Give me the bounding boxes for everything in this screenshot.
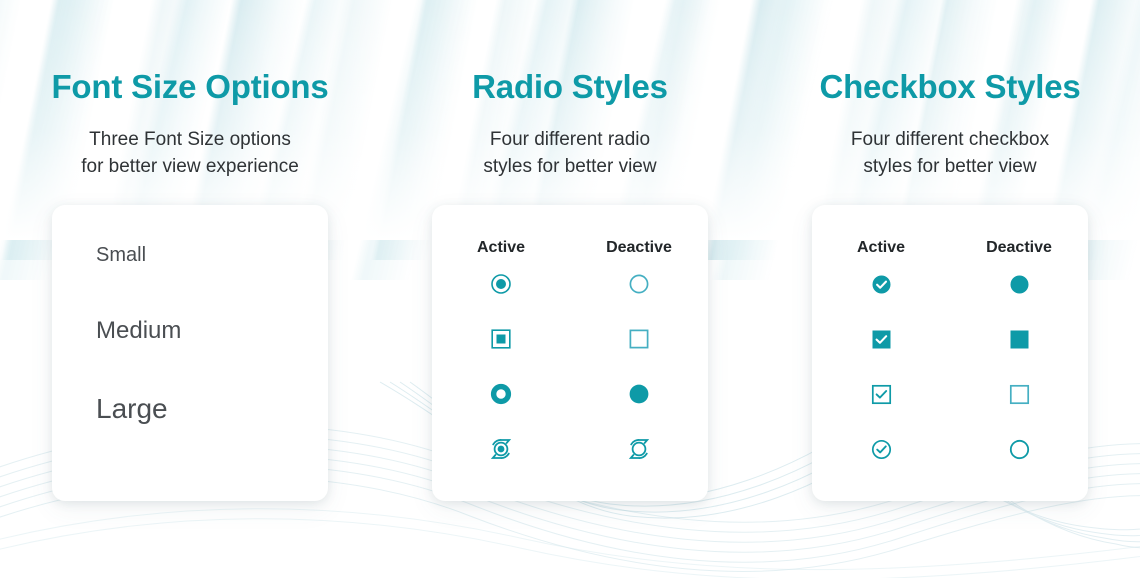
page-root: Font Size Options Three Font Size option… <box>0 0 1140 578</box>
checkbox-square-filled-icon[interactable] <box>1009 329 1030 350</box>
radio-deactive-cell-2[interactable] <box>570 328 708 350</box>
checkbox-option-grid: Active Deactive <box>812 205 1088 477</box>
radio-grid-header: Active Deactive <box>432 239 708 257</box>
columns-container: Font Size Options Three Font Size option… <box>0 0 1140 578</box>
radio-active-cell-2[interactable] <box>432 328 570 350</box>
font-size-option-large[interactable]: Large <box>96 395 328 423</box>
column-title-radio: Radio Styles <box>472 70 668 103</box>
checkbox-circle-outline-icon[interactable] <box>1009 439 1030 460</box>
checkbox-active-cell-2[interactable] <box>812 329 950 350</box>
radio-square-filled-inner-icon[interactable] <box>490 328 512 350</box>
checkbox-active-cell-3[interactable] <box>812 384 950 405</box>
radio-row-2 <box>432 312 708 367</box>
font-size-card: Small Medium Large <box>52 205 328 501</box>
radio-header-active: Active <box>432 239 570 257</box>
radio-header-deactive: Deactive <box>570 239 708 257</box>
radio-active-cell-3[interactable] <box>432 383 570 405</box>
checkbox-styles-card: Active Deactive <box>812 205 1088 501</box>
font-size-option-medium[interactable]: Medium <box>96 319 328 343</box>
column-title-checkbox: Checkbox Styles <box>819 70 1080 103</box>
radio-row-4 <box>432 422 708 477</box>
radio-slashed-circle-filled-icon[interactable] <box>489 437 513 461</box>
checkbox-row-4 <box>812 422 1088 477</box>
font-size-option-small[interactable]: Small <box>96 245 328 265</box>
radio-row-1 <box>432 257 708 312</box>
radio-deactive-cell-1[interactable] <box>570 273 708 295</box>
checkbox-circle-check-filled-icon[interactable] <box>871 274 892 295</box>
column-subtitle-font-size: Three Font Size options for better view … <box>81 127 299 181</box>
checkbox-square-check-outline-icon[interactable] <box>871 384 892 405</box>
checkbox-header-active: Active <box>812 239 950 257</box>
checkbox-header-deactive: Deactive <box>950 239 1088 257</box>
column-radio-styles: Radio Styles Four different radio styles… <box>380 0 760 578</box>
radio-active-cell-4[interactable] <box>432 437 570 461</box>
radio-deactive-cell-4[interactable] <box>570 437 708 461</box>
checkbox-circle-filled-icon[interactable] <box>1009 274 1030 295</box>
checkbox-deactive-cell-1[interactable] <box>950 274 1088 295</box>
checkbox-row-1 <box>812 257 1088 312</box>
checkbox-grid-header: Active Deactive <box>812 239 1088 257</box>
column-subtitle-radio: Four different radio styles for better v… <box>483 127 656 181</box>
radio-styles-card: Active Deactive <box>432 205 708 501</box>
radio-deactive-cell-3[interactable] <box>570 383 708 405</box>
radio-slashed-circle-outline-icon[interactable] <box>627 437 651 461</box>
column-font-size-options: Font Size Options Three Font Size option… <box>0 0 380 578</box>
radio-donut-icon[interactable] <box>490 383 512 405</box>
checkbox-deactive-cell-2[interactable] <box>950 329 1088 350</box>
column-subtitle-checkbox: Four different checkbox styles for bette… <box>851 127 1049 181</box>
radio-active-cell-1[interactable] <box>432 273 570 295</box>
checkbox-circle-check-outline-icon[interactable] <box>871 439 892 460</box>
checkbox-active-cell-1[interactable] <box>812 274 950 295</box>
checkbox-square-check-filled-icon[interactable] <box>871 329 892 350</box>
column-title-font-size: Font Size Options <box>51 70 328 103</box>
radio-square-outline-icon[interactable] <box>628 328 650 350</box>
checkbox-row-3 <box>812 367 1088 422</box>
checkbox-active-cell-4[interactable] <box>812 439 950 460</box>
radio-row-3 <box>432 367 708 422</box>
radio-circle-dot-icon[interactable] <box>490 273 512 295</box>
radio-option-grid: Active Deactive <box>432 205 708 477</box>
radio-circle-outline-icon[interactable] <box>628 273 650 295</box>
font-size-list: Small Medium Large <box>52 205 328 423</box>
checkbox-deactive-cell-3[interactable] <box>950 384 1088 405</box>
checkbox-row-2 <box>812 312 1088 367</box>
checkbox-deactive-cell-4[interactable] <box>950 439 1088 460</box>
column-checkbox-styles: Checkbox Styles Four different checkbox … <box>760 0 1140 578</box>
radio-circle-filled-icon[interactable] <box>628 383 650 405</box>
checkbox-square-outline-icon[interactable] <box>1009 384 1030 405</box>
